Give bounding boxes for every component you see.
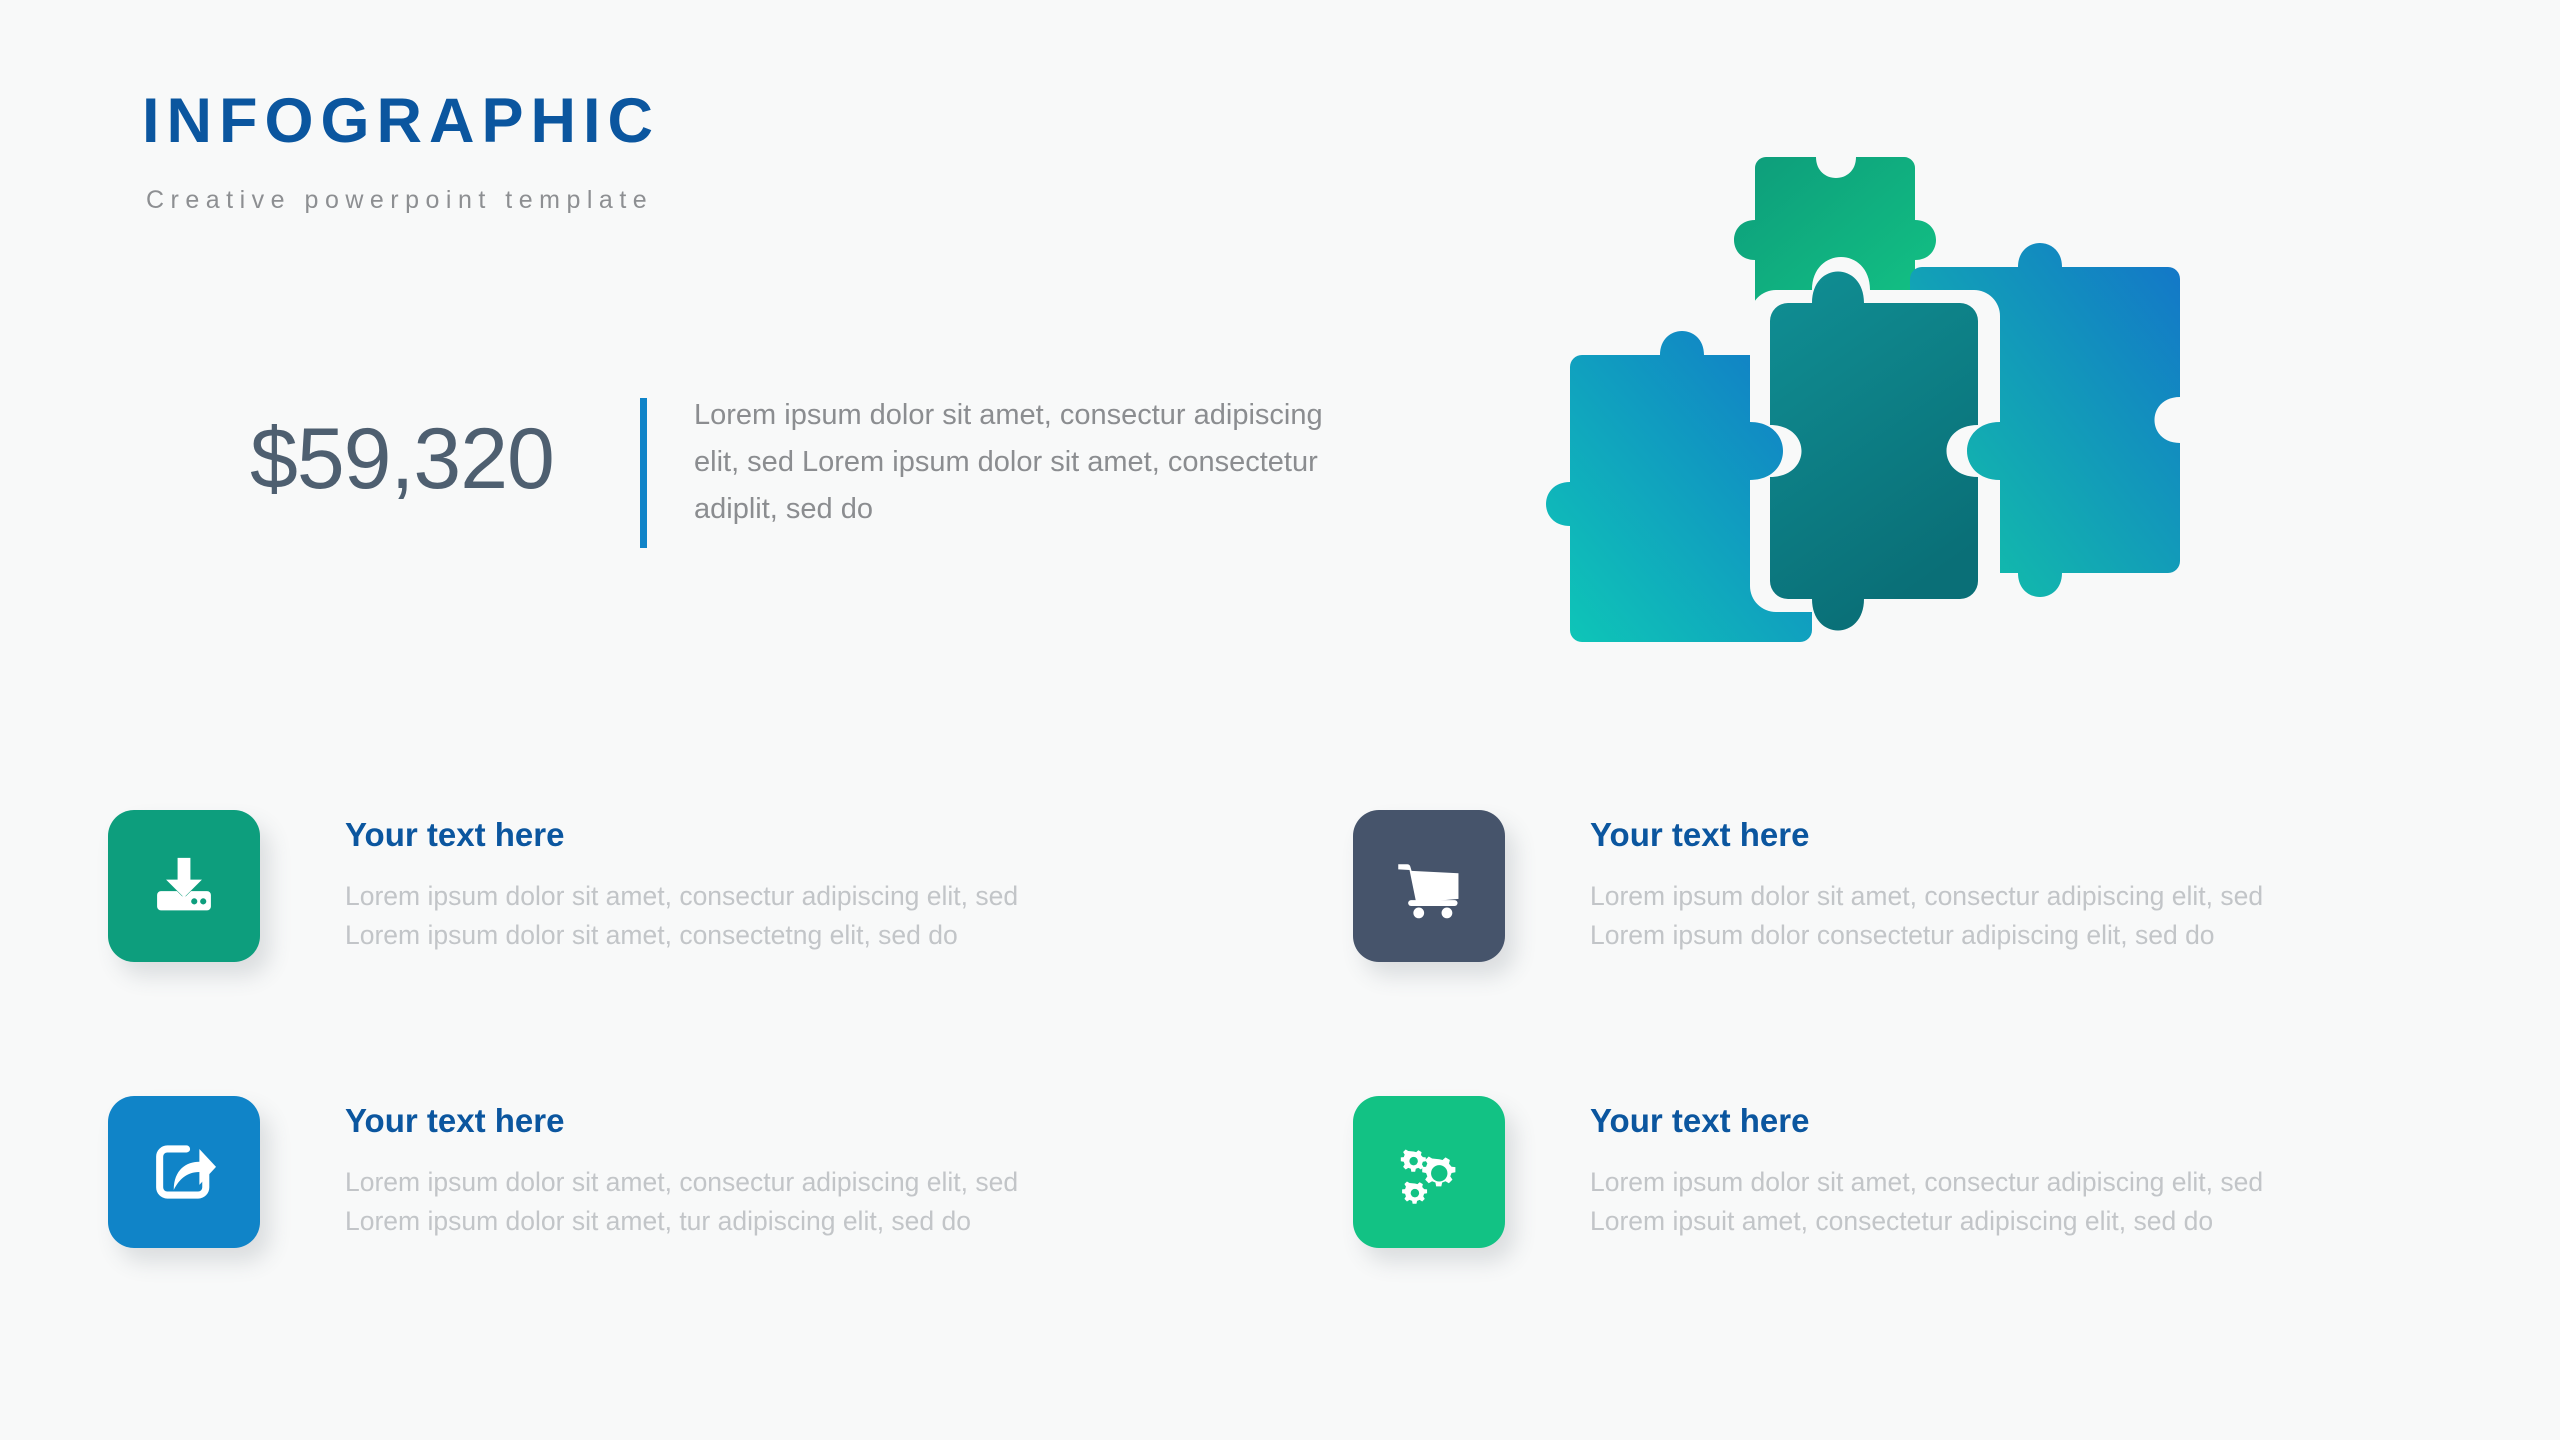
feature-description: Lorem ipsum dolor sit amet, consectur ad…: [1590, 877, 2263, 955]
feature-icon-box[interactable]: [1353, 810, 1505, 962]
feature-text: Your text here Lorem ipsum dolor sit ame…: [1590, 1096, 2263, 1241]
feature-description: Lorem ipsum dolor sit amet, consectur ad…: [345, 1163, 1018, 1241]
feature-title: Your text here: [345, 1104, 1018, 1137]
feature-text: Your text here Lorem ipsum dolor sit ame…: [345, 1096, 1018, 1241]
gears-icon: [1388, 1131, 1470, 1213]
shopping-cart-icon: [1388, 845, 1470, 927]
feature-title: Your text here: [1590, 818, 2263, 851]
feature-item[interactable]: Your text here Lorem ipsum dolor sit ame…: [108, 1096, 1018, 1248]
feature-item[interactable]: Your text here Lorem ipsum dolor sit ame…: [108, 810, 1018, 962]
feature-title: Your text here: [1590, 1104, 2263, 1137]
feature-icon-box[interactable]: [1353, 1096, 1505, 1248]
stat-divider: [640, 398, 647, 548]
feature-title: Your text here: [345, 818, 1018, 851]
feature-description: Lorem ipsum dolor sit amet, consectur ad…: [345, 877, 1018, 955]
page-title: INFOGRAPHIC: [142, 90, 660, 153]
page-subtitle: Creative powerpoint template: [146, 188, 653, 213]
stat-block: $59,320 Lorem ipsum dolor sit amet, cons…: [250, 392, 1334, 548]
stat-description: Lorem ipsum dolor sit amet, consectur ad…: [694, 392, 1334, 533]
stat-value: $59,320: [250, 392, 640, 502]
infographic-slide: INFOGRAPHIC Creative powerpoint template…: [0, 0, 2560, 1440]
feature-description: Lorem ipsum dolor sit amet, consectur ad…: [1590, 1163, 2263, 1241]
feature-icon-box[interactable]: [108, 1096, 260, 1248]
feature-item[interactable]: Your text here Lorem ipsum dolor sit ame…: [1353, 810, 2263, 962]
feature-text: Your text here Lorem ipsum dolor sit ame…: [345, 810, 1018, 955]
share-icon: [143, 1131, 225, 1213]
feature-item[interactable]: Your text here Lorem ipsum dolor sit ame…: [1353, 1096, 2263, 1248]
feature-text: Your text here Lorem ipsum dolor sit ame…: [1590, 810, 2263, 955]
feature-icon-box[interactable]: [108, 810, 260, 962]
download-icon: [143, 845, 225, 927]
puzzle-illustration: [1470, 110, 2350, 720]
